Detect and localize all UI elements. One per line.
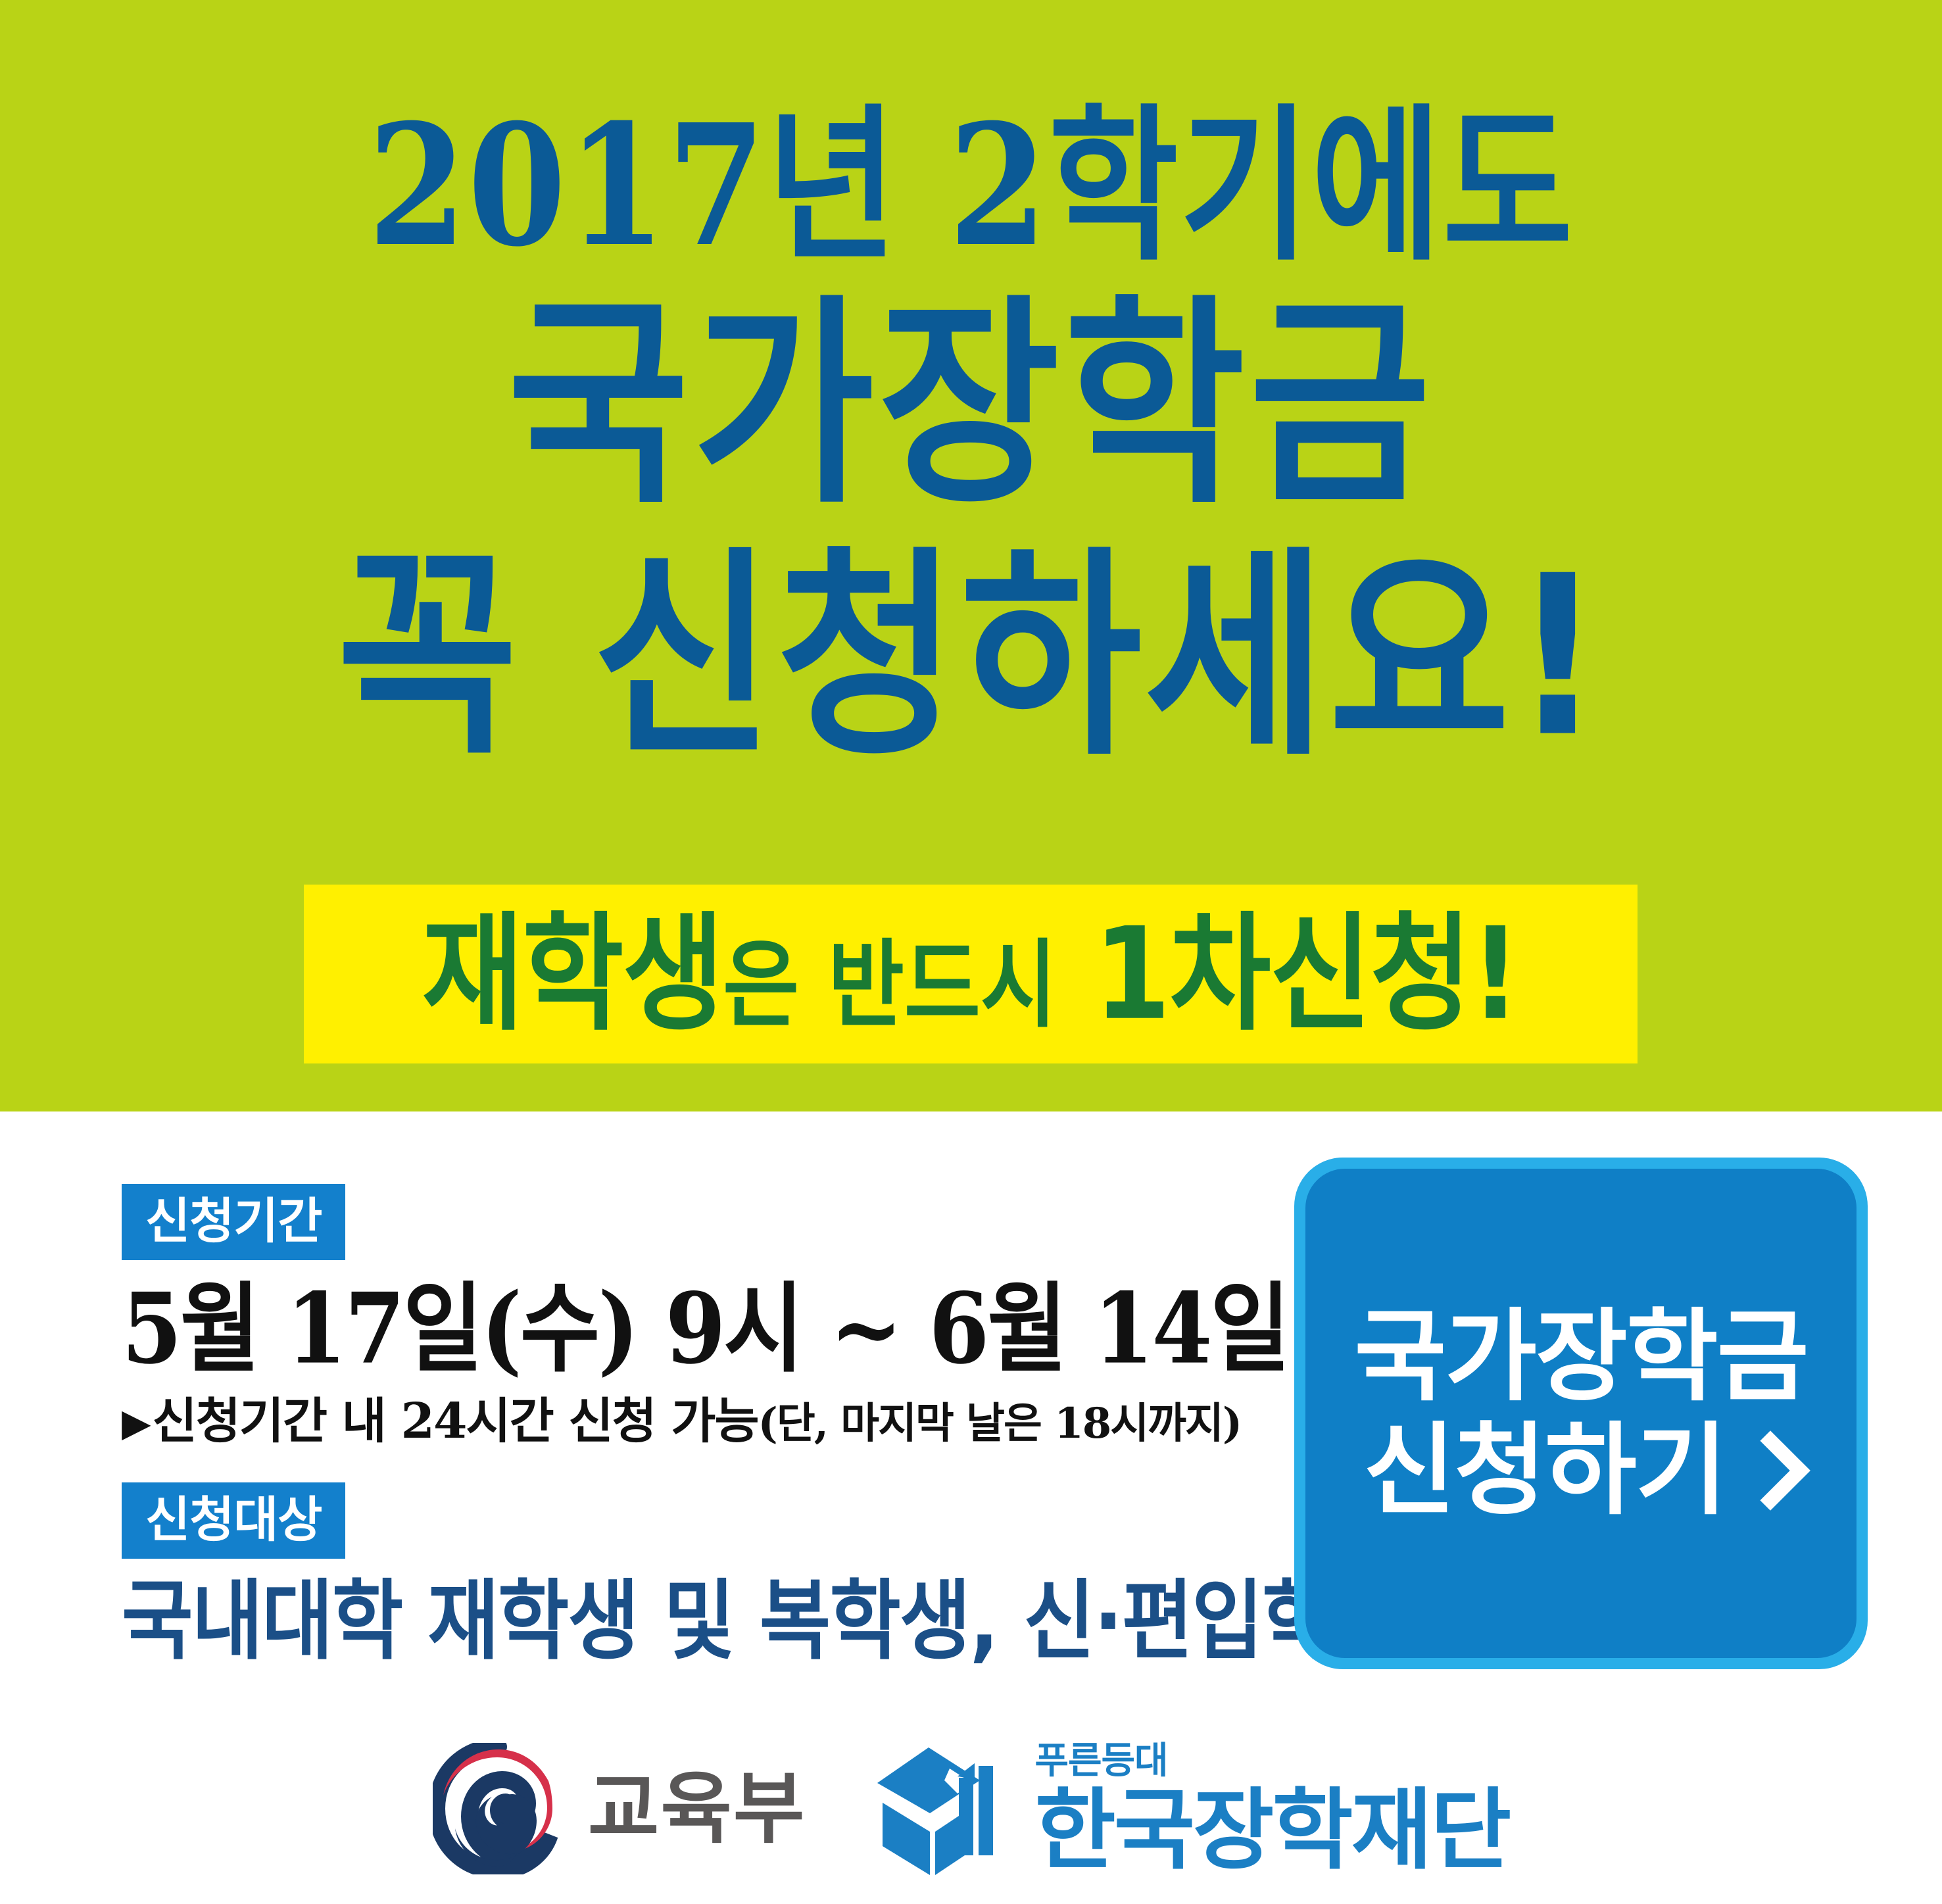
apply-scholarship-button-inner[interactable]: 국가장학금 신청하기 (1305, 1169, 1857, 1658)
application-target-tag: 신청대상 (122, 1482, 345, 1559)
sub-banner-particle: 은 (723, 929, 799, 1040)
application-target-block: 신청대상 (122, 1482, 1253, 1559)
cta-line-2-row: 신청하기 (1363, 1413, 1798, 1527)
kosaf-tagline: 푸른등대 (1035, 1743, 1168, 1780)
hero-headline-line1: 국가장학금 (0, 299, 1942, 512)
application-period-note-paren: (단, 마지막 날은 18시까지) (758, 1399, 1242, 1448)
sub-banner-emphasis: 1차신청! (1094, 900, 1519, 1048)
sub-banner-highlight: 재학생은 반드시 1차신청! (304, 885, 1638, 1063)
application-target-value: 국내대학 재학생 및 복학생, 신·편입학생 (122, 1576, 1253, 1667)
bullet-arrow-icon: ▶ (122, 1400, 150, 1445)
apply-scholarship-button[interactable]: 국가장학금 신청하기 (1294, 1158, 1868, 1669)
chevron-right-icon (1730, 1430, 1810, 1511)
ministry-of-education-name: 교육부 (588, 1770, 806, 1847)
cta-line-2: 신청하기 (1363, 1413, 1726, 1527)
taegeuk-spiral-icon (433, 1743, 564, 1874)
application-period-note-main: 신청기간 내 24시간 신청 가능 (153, 1393, 758, 1450)
sub-banner-middle: 반드시 (828, 929, 1057, 1040)
application-period-tag: 신청기간 (122, 1184, 345, 1260)
application-period-note: ▶신청기간 내 24시간 신청 가능(단, 마지막 날은 18시까지) (122, 1395, 1253, 1448)
ministry-of-education-logo: 교육부 (433, 1743, 806, 1874)
kosaf-wordmark: 푸른등대 한국장학재단 (1035, 1743, 1510, 1874)
sub-banner-strong: 재학생 (422, 900, 723, 1048)
cta-line-1: 국가장학금 (1354, 1300, 1807, 1413)
graduation-cap-lighthouse-icon (872, 1740, 1017, 1878)
kosaf-name: 한국장학재단 (1035, 1786, 1510, 1874)
sub-banner-text: 재학생은 반드시 1차신청! (422, 910, 1520, 1037)
logo-row: 교육부 푸른등대 한국장학 (0, 1713, 1942, 1904)
kosaf-logo: 푸른등대 한국장학재단 (872, 1740, 1510, 1878)
hero-kicker: 2017년 2학기에도 (0, 102, 1942, 269)
hero-section: 2017년 2학기에도 국가장학금 꼭 신청하세요! 재학생은 반드시 1차신청… (0, 0, 1942, 1111)
application-period-value: 5월 17일(수) 9시 ~ 6월 14일(수) 18시 (122, 1279, 1253, 1380)
info-details: 신청기간 5월 17일(수) 9시 ~ 6월 14일(수) 18시 ▶신청기간 … (122, 1184, 1253, 1657)
scholarship-promo-banner: 2017년 2학기에도 국가장학금 꼭 신청하세요! 재학생은 반드시 1차신청… (0, 0, 1942, 1903)
hero-headline-line2: 꼭 신청하세요! (0, 551, 1942, 764)
